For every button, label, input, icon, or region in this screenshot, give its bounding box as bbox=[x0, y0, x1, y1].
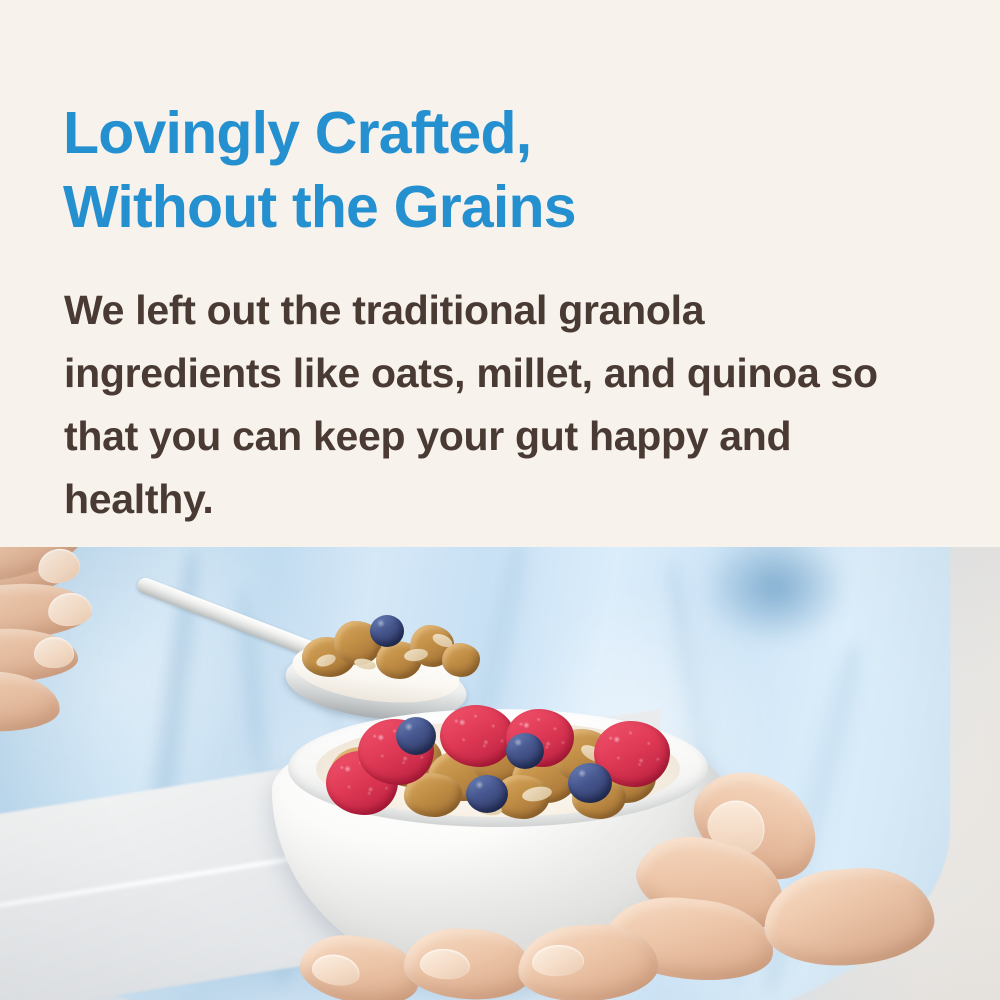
blueberry bbox=[466, 775, 508, 813]
blueberry bbox=[506, 733, 544, 769]
hero-photo bbox=[0, 547, 1000, 1000]
body-paragraph: We left out the traditional granola ingr… bbox=[64, 279, 884, 531]
blueberry bbox=[370, 615, 404, 647]
left-hand bbox=[0, 547, 210, 793]
blueberry bbox=[396, 717, 436, 755]
marketing-banner: Lovingly Crafted, Without the Grains We … bbox=[0, 0, 1000, 1000]
fingernail bbox=[34, 637, 74, 668]
supporting-fingers bbox=[300, 915, 720, 1000]
spoon-granola bbox=[292, 615, 482, 687]
page-title: Lovingly Crafted, Without the Grains bbox=[63, 96, 923, 244]
text-panel: Lovingly Crafted, Without the Grains We … bbox=[0, 0, 1000, 547]
raspberry bbox=[440, 705, 514, 767]
